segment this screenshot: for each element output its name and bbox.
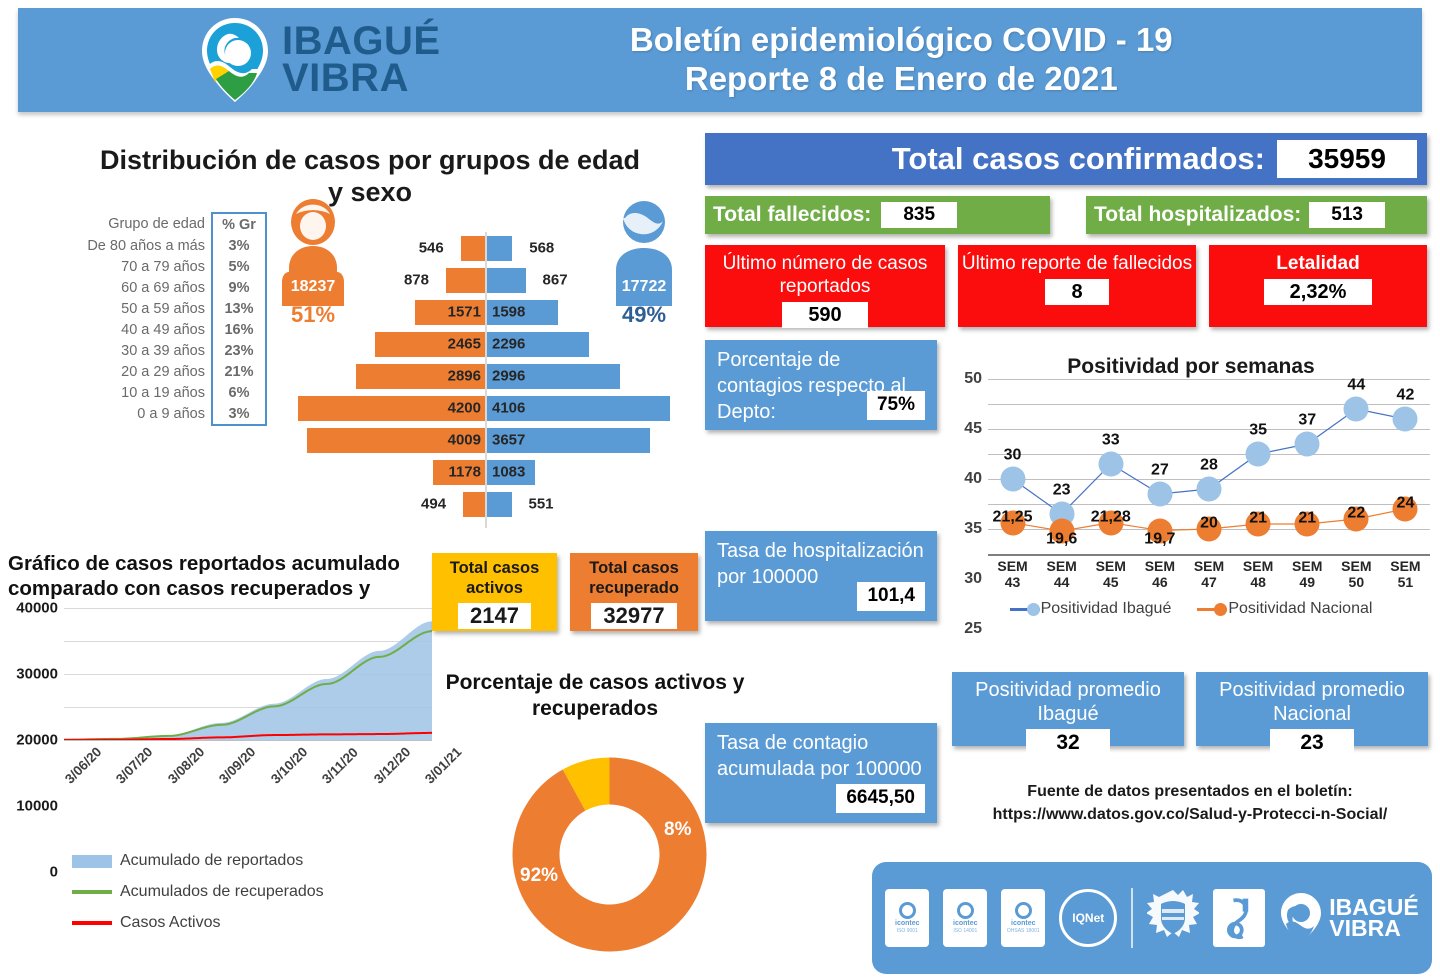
pyramid-bar-female: 2896 [356,364,485,389]
total-recovered-value: 32977 [591,603,676,629]
lethality-value: 2,32% [1264,279,1373,305]
acumulados-x-axis: 3/06/203/07/203/08/203/09/203/10/203/11/… [56,770,436,850]
data-point-marker [1344,397,1369,422]
positividad-promedio-nacional-card: Positividad promedio Nacional 23 [1196,672,1428,746]
age-table-element: Grupo de edad% GrDe 80 años a más3%70 a … [42,212,267,426]
acumulados-series [64,608,432,740]
data-point-label: 27 [1151,462,1169,480]
data-point-label: 23 [1053,482,1071,500]
logo-line-1: IBAGUÉ [282,23,441,60]
table-row: Grupo de edad% Gr [42,213,266,235]
data-point: 20 [1197,517,1222,542]
table-row: 70 a 79 años5% [42,256,266,277]
data-point: 21 [1295,512,1320,537]
icontec-cert-2: icontec ISO 14001 [943,889,987,947]
footer-ibague-vibra-logo: IBAGUÉ VIBRA [1279,892,1418,944]
pyramid-row: 878867 [290,264,680,296]
age-group-label: 70 a 79 años [42,256,212,277]
pyramid-bar-female: 2465 [375,332,485,357]
icontec-ring-icon [1015,902,1032,919]
x-axis-tick: SEM51 [1381,558,1430,590]
y-axis-tick: 25 [964,620,982,638]
total-hospitalized-card: Total hospitalizados: 513 [1086,196,1427,234]
total-confirmed-value: 35959 [1277,140,1417,178]
data-point: 21 [1246,512,1271,537]
data-point: 37 [1295,432,1320,457]
data-point: 24 [1393,497,1418,522]
pyramid-row: 28962996 [290,360,680,392]
x-axis-tick: SEM48 [1234,558,1283,590]
pyramid-row: 494551 [290,488,680,520]
icontec-cert-1-sub: ISO 9001 [897,928,918,934]
data-point-label: 35 [1249,422,1267,440]
age-group-pct: 5% [212,256,266,277]
total-confirmed-card: Total casos confirmados: 35959 [705,133,1427,185]
pct-contagios-value: 75% [867,391,925,420]
pyramid-bar-female: 878 [446,268,485,293]
icontec-ring-icon [899,902,916,919]
pyramid-row: 11781083 [290,456,680,488]
pyramid-value-male: 4106 [492,400,525,417]
footer-logo-bar: icontec ISO 9001 icontec ISO 14001 icont… [872,862,1432,974]
lethality-label: Letalidad [1209,253,1427,276]
age-group-label: 50 a 59 años [42,298,212,319]
icontec-cert-3-name: icontec [1011,920,1036,927]
data-point-label: 30 [1004,447,1022,465]
pyramid-value-male: 2996 [492,368,525,385]
data-point-label: 19,7 [1144,530,1175,548]
positividad-x-axis: SEM43SEM44SEM45SEM46SEM47SEM48SEM49SEM50… [988,558,1430,590]
alcaldia-shield-icon [1147,887,1199,949]
age-group-pct: 9% [212,277,266,298]
data-point: 35 [1246,442,1271,467]
age-group-label: 20 a 29 años [42,361,212,382]
footer-logo-line-2: VIBRA [1329,918,1418,939]
y-axis-tick: 10000 [16,798,58,815]
data-point: 30 [1000,467,1025,492]
table-row: 50 a 59 años13% [42,298,266,319]
y-axis-tick: 35 [964,520,982,538]
table-row: 40 a 49 años16% [42,319,266,340]
y-axis-tick: 20000 [16,732,58,749]
legend-label: Acumulado de reportados [120,852,303,870]
data-source-line-1: Fuente de datos presentados en el boletí… [945,780,1435,803]
pyramid-value-female: 1571 [448,304,481,321]
population-pyramid-chart: 5465688788671571159824652296289629964200… [290,232,680,524]
footer-logo-pin-icon [1279,892,1323,944]
age-group-pct: 23% [212,340,266,361]
age-group-label: 0 a 9 años [42,403,212,425]
pyramid-value-male: 1083 [492,464,525,481]
data-point-marker [1147,482,1172,507]
age-group-label: 60 a 69 años [42,277,212,298]
data-point-label: 44 [1347,377,1365,395]
pyramid-title-line-2: y sexo [60,177,680,209]
legend-label: Positividad Nacional [1228,600,1372,618]
salud-glyph-icon [1215,891,1263,945]
legend-line [72,921,112,925]
y-axis-tick: 30000 [16,666,58,683]
acumulados-chart-title: Gráfico de casos reportados acumulado co… [8,552,433,601]
positividad-promedio-ibague-card: Positividad promedio Ibagué 32 [952,672,1184,746]
pyramid-bar-male: 4106 [487,396,670,421]
data-point-label: 20 [1200,515,1218,533]
total-recovered-label: Total casos recuperado [570,559,698,599]
logo-pin-icon [198,16,272,104]
data-point-marker [1246,442,1271,467]
pyramid-row: 40093657 [290,424,680,456]
pyramid-bar-male: 551 [487,492,512,517]
pyramid-value-male: 551 [528,496,553,513]
series-area [64,621,432,740]
total-hospitalized-label: Total hospitalizados: [1094,203,1301,227]
y-axis-tick: 30 [964,570,982,588]
pyramid-bar-female: 1178 [433,460,485,485]
data-point: 21,25 [1000,510,1025,535]
pyramid-bar-male: 867 [487,268,526,293]
data-point: 21,28 [1098,510,1123,535]
table-row: De 80 años a más3% [42,235,266,256]
y-axis-tick: 45 [964,420,982,438]
gridline: 15 [988,554,1430,556]
total-active-card: Total casos activos 2147 [432,553,557,631]
data-point: 22 [1344,507,1369,532]
age-group-pct: 16% [212,319,266,340]
legend-item[interactable]: Acumulado de reportados [72,852,412,870]
data-point-marker [1098,452,1123,477]
data-point-marker [1197,477,1222,502]
legend-line [72,890,112,894]
last-reported-cases-value: 590 [782,302,867,328]
icontec-cert-1-name: icontec [895,920,920,927]
data-point-label: 28 [1200,457,1218,475]
data-point-marker [1295,432,1320,457]
data-source-link[interactable]: https://www.datos.gov.co/Salud-y-Protecc… [945,803,1435,826]
donut-chart-title: Porcentaje de casos activos y recuperado… [430,670,760,721]
donut-label-activos: 8% [664,819,691,841]
age-group-label: De 80 años a más [42,235,212,256]
data-point-label: 21 [1298,510,1316,528]
x-axis-tick: SEM44 [1037,558,1086,590]
x-axis-tick: SEM46 [1135,558,1184,590]
data-point: 27 [1147,482,1172,507]
pyramid-bar-female: 4200 [298,396,485,421]
positividad-legend: Positividad IbaguéPositividad Nacional [952,600,1430,618]
tasa-contagio-card: Tasa de contagio acumulada por 100000 66… [705,723,937,823]
age-group-pct: 3% [212,403,266,425]
total-deaths-card: Total fallecidos: 835 [705,196,1050,234]
positividad-chart: Positividad por semanas 5045403530252015… [952,355,1430,640]
pyramid-value-male: 867 [543,272,568,289]
icontec-cert-2-name: icontec [953,920,978,927]
legend-label: Acumulados de recuperados [120,883,324,901]
icontec-cert-1: icontec ISO 9001 [885,889,929,947]
page-header: IBAGUÉ VIBRA Boletín epidemiológico COVI… [18,8,1422,112]
pyramid-bar-male: 2996 [487,364,620,389]
positividad-chart-title: Positividad por semanas [952,355,1430,379]
pyramid-value-female: 2465 [448,336,481,353]
x-axis-tick: SEM50 [1332,558,1381,590]
icontec-cert-3: icontec OHSAS 18001 [1001,889,1045,947]
tasa-contagio-label: Tasa de contagio acumulada por 100000 [717,732,922,780]
secretaria-salud-logo [1213,889,1265,947]
last-reported-cases-label: Último número de casos reportados [705,253,945,299]
legend-dot [1214,603,1227,616]
pyramid-value-female: 546 [419,240,444,257]
donut-svg [512,757,707,952]
age-group-pct: 6% [212,382,266,403]
pyramid-value-male: 1598 [492,304,525,321]
acumulados-chart: 400003000020000100000 [8,608,436,768]
x-axis-tick: SEM43 [988,558,1037,590]
data-point: 33 [1098,452,1123,477]
tasa-hospitalizacion-label: Tasa de hospitalización por 100000 [717,540,924,588]
last-reported-deaths-card: Último reporte de fallecidos 8 [958,245,1196,327]
positividad-promedio-nacional-label: Positividad promedio Nacional [1196,678,1428,727]
pyramid-bar-male: 2296 [487,332,589,357]
data-point-label: 21,28 [1091,508,1131,526]
table-row: 30 a 39 años23% [42,340,266,361]
data-point: 44 [1344,397,1369,422]
total-confirmed-label: Total casos confirmados: [892,141,1265,177]
lethality-card: Letalidad 2,32% [1209,245,1427,327]
logo-divider [1131,888,1133,948]
data-point-label: 24 [1397,495,1415,513]
total-active-value: 2147 [458,603,531,629]
pyramid-bar-female: 1571 [415,300,485,325]
pyramid-value-male: 3657 [492,432,525,449]
age-group-pct: 21% [212,361,266,382]
data-point: 28 [1197,477,1222,502]
pyramid-bar-male: 1083 [487,460,535,485]
age-group-label: 40 a 49 años [42,319,212,340]
pyramid-value-female: 494 [421,496,446,513]
positividad-plot-area: 504540353025201530233327283537444221,251… [988,379,1430,554]
y-axis-tick: 50 [964,370,982,388]
tasa-hospitalizacion-card: Tasa de hospitalización por 100000 101,4 [705,531,937,621]
tasa-contagio-value: 6645,50 [836,784,925,813]
age-group-table: Grupo de edad% GrDe 80 años a más3%70 a … [42,212,267,426]
legend-dot [1027,603,1040,616]
pyramid-section-title: Distribución de casos por grupos de edad… [60,145,680,209]
pyramid-value-male: 2296 [492,336,525,353]
age-group-pct: 13% [212,298,266,319]
icontec-ring-icon [957,902,974,919]
title-line-1: Boletín epidemiológico COVID - 19 [441,21,1362,60]
icontec-cert-3-sub: OHSAS 18001 [1007,928,1040,934]
age-group-label: 10 a 19 años [42,382,212,403]
pyramid-row: 546568 [290,232,680,264]
pyramid-row: 42004106 [290,392,680,424]
footer-logo-wordmark: IBAGUÉ VIBRA [1329,897,1418,939]
data-point-marker [1000,467,1025,492]
tasa-hospitalizacion-value: 101,4 [857,582,925,611]
y-axis-tick: 0 [50,864,58,881]
legend-item[interactable]: Positividad Ibagué [1010,600,1172,618]
data-point: 19,7 [1147,518,1172,543]
pyramid-value-female: 4200 [448,400,481,417]
x-axis-tick: SEM47 [1184,558,1233,590]
data-point-label: 22 [1347,505,1365,523]
data-point-label: 21,25 [993,508,1033,526]
total-hospitalized-value: 513 [1309,202,1385,228]
logo-line-2: VIBRA [282,60,441,97]
iqnet-logo: IQNet [1059,889,1117,947]
total-deaths-value: 835 [881,202,957,228]
legend-label: Casos Activos [120,914,220,932]
x-axis-tick: SEM45 [1086,558,1135,590]
donut-chart: 92%8% [512,757,707,952]
legend-item[interactable]: Acumulados de recuperados [72,883,412,901]
pyramid-value-male: 568 [529,240,554,257]
data-source-note: Fuente de datos presentados en el boletí… [945,780,1435,826]
x-axis-tick: SEM49 [1283,558,1332,590]
last-reported-deaths-label: Último reporte de fallecidos [958,253,1196,276]
logo-wordmark: IBAGUÉ VIBRA [282,23,441,97]
legend-item[interactable]: Positividad Nacional [1197,600,1372,618]
pyramid-title-line-1: Distribución de casos por grupos de edad [60,145,680,177]
legend-label: Positividad Ibagué [1041,600,1172,618]
y-axis-tick: 40 [964,470,982,488]
table-row: 60 a 69 años9% [42,277,266,298]
title-line-2: Reporte 8 de Enero de 2021 [441,60,1362,99]
page-title: Boletín epidemiológico COVID - 19 Report… [441,21,1362,99]
donut-label-recuperados: 92% [520,865,558,887]
pyramid-bar-female: 494 [463,492,485,517]
age-group-label: 30 a 39 años [42,340,212,361]
data-point-marker [1393,407,1418,432]
pyramid-bar-female: 4009 [307,428,485,453]
y-axis-tick: 40000 [16,600,58,617]
pyramid-value-female: 878 [404,272,429,289]
pyramid-bar-male: 3657 [487,428,650,453]
positividad-promedio-ibague-label: Positividad promedio Ibagué [952,678,1184,727]
icontec-cert-2-sub: ISO 14001 [953,928,977,934]
pyramid-value-female: 4009 [448,432,481,449]
positividad-promedio-nacional-value: 23 [1270,729,1353,757]
pyramid-bar-male: 568 [487,236,512,261]
data-point: 42 [1393,407,1418,432]
total-active-label: Total casos activos [432,559,557,599]
last-reported-deaths-value: 8 [1045,279,1108,305]
data-point-label: 37 [1298,412,1316,430]
data-point-label: 19,6 [1046,531,1077,549]
table-row: 10 a 19 años6% [42,382,266,403]
legend-swatch [72,855,112,868]
pyramid-row: 24652296 [290,328,680,360]
data-point: 19,6 [1049,519,1074,544]
total-recovered-card: Total casos recuperado 32977 [570,553,698,631]
pyramid-bar-male: 1598 [487,300,558,325]
last-reported-cases-card: Último número de casos reportados 590 [705,245,945,327]
data-point-label: 33 [1102,432,1120,450]
data-point-label: 42 [1397,387,1415,405]
table-row: 20 a 29 años21% [42,361,266,382]
pyramid-value-female: 2896 [448,368,481,385]
gridline: 0 [64,740,432,741]
age-group-pct: 3% [212,235,266,256]
pyramid-row: 15711598 [290,296,680,328]
data-point-label: 21 [1249,510,1267,528]
age-table-header-pct: % Gr [212,213,266,235]
legend-item[interactable]: Casos Activos [72,914,412,932]
pyramid-bar-female: 546 [461,236,485,261]
total-deaths-label: Total fallecidos: [713,203,871,227]
pyramid-value-female: 1178 [448,464,481,481]
pct-contagios-card: Porcentaje de contagios respecto al Dept… [705,340,937,430]
table-row: 0 a 9 años3% [42,403,266,425]
age-table-header-group: Grupo de edad [42,213,212,235]
ibague-vibra-logo: IBAGUÉ VIBRA [198,16,441,104]
acumulados-legend: Acumulado de reportadosAcumulados de rec… [72,852,412,945]
positividad-promedio-ibague-value: 32 [1026,729,1109,757]
